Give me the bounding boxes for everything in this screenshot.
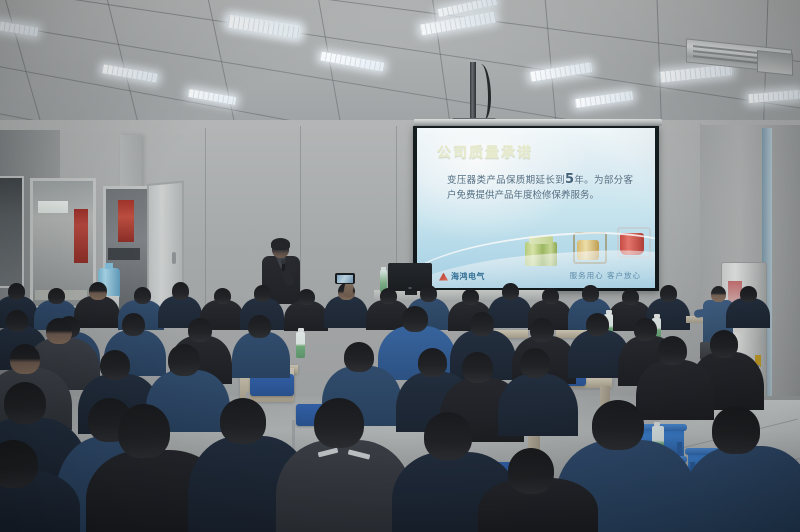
slide-tagline: 服务用心 客户放心 (570, 270, 641, 281)
interior-window (30, 178, 96, 309)
logo-company-name: 海鸿电气 (451, 271, 485, 282)
slide-body-text: 变压器类产品保质期延长到5年。为部分客户免费提供产品年度检修保养服务。 (447, 172, 633, 203)
meeting-room-photo: 公司质量承诺 变压器类产品保质期延长到5年。为部分客户免费提供产品年度检修保养服… (0, 0, 800, 532)
audience-member (232, 332, 290, 378)
interior-window-far (0, 176, 24, 288)
audience-head (740, 286, 757, 302)
audience-member (284, 301, 328, 331)
audience-head (134, 287, 151, 304)
audience-head (48, 288, 65, 304)
audience-head (6, 310, 28, 332)
audience-head (592, 400, 644, 450)
presenter-hair (271, 238, 290, 250)
audience-member (74, 296, 120, 328)
audience-head (344, 342, 374, 372)
wall-poster (118, 200, 134, 242)
audience-head (10, 344, 40, 374)
audience-head (462, 289, 479, 305)
audience-head (634, 318, 657, 341)
monitor-stand (405, 291, 417, 295)
audience-head (418, 348, 447, 377)
audience-head (122, 313, 145, 336)
ceiling-air-vent-secondary (757, 50, 793, 76)
audience-head (248, 315, 271, 338)
audience-member (488, 296, 532, 328)
audience-head (254, 285, 271, 302)
audience-head (712, 406, 760, 454)
audience-member (324, 296, 368, 328)
audience-head (622, 289, 639, 305)
audience-head (172, 282, 189, 300)
audience-head (520, 348, 550, 378)
slide-body-lead: 变压器类产品保质期延长到 (447, 175, 565, 186)
audience-head (4, 382, 46, 424)
audience-head (582, 285, 599, 302)
audience-head (402, 306, 428, 332)
audience-head (118, 404, 170, 458)
wall-poster (74, 209, 88, 263)
phone-screen (337, 275, 353, 283)
audience-member (498, 374, 578, 436)
audience-head (8, 283, 25, 300)
audience-head (188, 318, 212, 342)
audience-head (530, 318, 554, 342)
projection-screen-housing (414, 119, 662, 126)
audience-head (658, 336, 687, 365)
audience-head (298, 289, 315, 305)
audience-head (710, 330, 738, 358)
audience-head (168, 344, 200, 376)
logo-mark-icon (439, 273, 448, 281)
audience-head (220, 398, 266, 444)
wall-seam (205, 128, 206, 318)
audience-head (46, 318, 72, 344)
audience-head (711, 286, 726, 302)
audience-head (214, 288, 231, 304)
slide-company-logo: 海鸿电气 (439, 271, 485, 282)
audience-member (726, 298, 770, 328)
audience-head (470, 312, 494, 336)
microphone-head (281, 259, 286, 264)
audience-head (462, 352, 493, 383)
audience-head (314, 398, 364, 448)
audience-head (420, 285, 437, 302)
audience-head (100, 350, 130, 380)
audience-head (586, 313, 609, 336)
bottled-water (296, 332, 305, 358)
audience-head (424, 412, 472, 460)
audience-head (660, 285, 677, 302)
audience-head (502, 283, 519, 300)
slide-body-number: 5 (565, 172, 574, 187)
smartphone-camera[interactable] (335, 273, 355, 284)
audience-member (636, 360, 714, 420)
audience-member (684, 446, 800, 532)
door-handle[interactable] (172, 252, 176, 264)
audience-head (380, 288, 397, 304)
audience-head (508, 448, 554, 494)
audience-head (542, 288, 559, 304)
slide-title: 公司质量承诺 (437, 142, 533, 162)
audience-head (89, 282, 107, 300)
window-pane-highlight (38, 201, 68, 213)
furniture-in-next-room (108, 248, 140, 260)
projection-screen[interactable]: 公司质量承诺 变压器类产品保质期延长到5年。为部分客户免费提供产品年度检修保养服… (417, 128, 655, 288)
